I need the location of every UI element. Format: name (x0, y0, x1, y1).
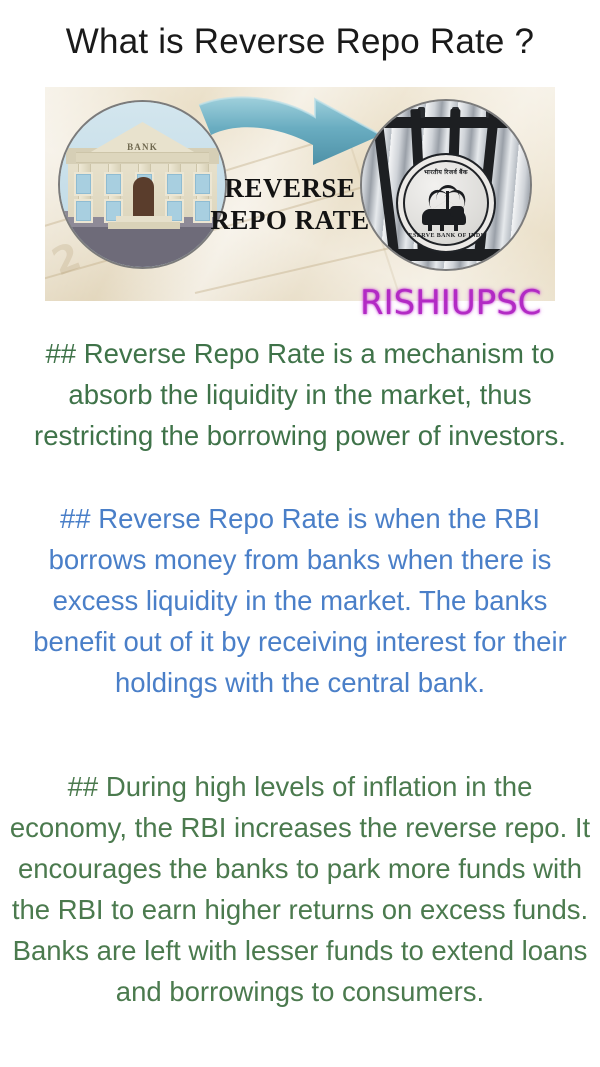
tiger-leg (454, 224, 458, 231)
bank-window (74, 172, 93, 196)
bank-door (133, 177, 154, 217)
bank-steps (108, 222, 180, 229)
seal-text-devanagari: भारतीय रिजर्व बैंक (398, 168, 494, 176)
gate-stud (384, 107, 391, 118)
rishiupsc-watermark: RISHIUPSC (360, 283, 542, 323)
bank-window (74, 199, 93, 223)
tiger-head (450, 206, 464, 217)
paragraph-inflation-effect: ## During high levels of inflation in th… (8, 766, 592, 1012)
paragraph-mechanism: ## Reverse Repo Rate is when the RBI bor… (8, 498, 592, 703)
reserve-bank-of-india-emblem: भारतीय रिजर्व बैंक RESERVE BANK OF INDIA (396, 153, 496, 253)
label-line-2: REPO RATE (200, 204, 380, 236)
bank-window (165, 172, 184, 196)
tiger-leg (428, 224, 432, 231)
page-title: What is Reverse Repo Rate ? (0, 20, 600, 64)
gate-rail (370, 117, 522, 128)
bank-window (104, 172, 123, 196)
banner-image: 200 6CB 721 2 BANK (45, 87, 555, 301)
reverse-repo-rate-label: REVERSE REPO RATE (200, 172, 380, 236)
label-line-1: REVERSE (200, 172, 380, 204)
seal-text-english: RESERVE BANK OF INDIA (398, 233, 494, 239)
palm-tree-and-tiger-emblem (416, 181, 476, 225)
tiger-leg (440, 224, 444, 231)
bank-cornice (76, 152, 209, 163)
rbi-seal-icon: भारतीय रिजर्व बैंक RESERVE BANK OF INDIA (360, 99, 532, 271)
paragraph-definition: ## Reverse Repo Rate is a mechanism to a… (8, 333, 592, 456)
